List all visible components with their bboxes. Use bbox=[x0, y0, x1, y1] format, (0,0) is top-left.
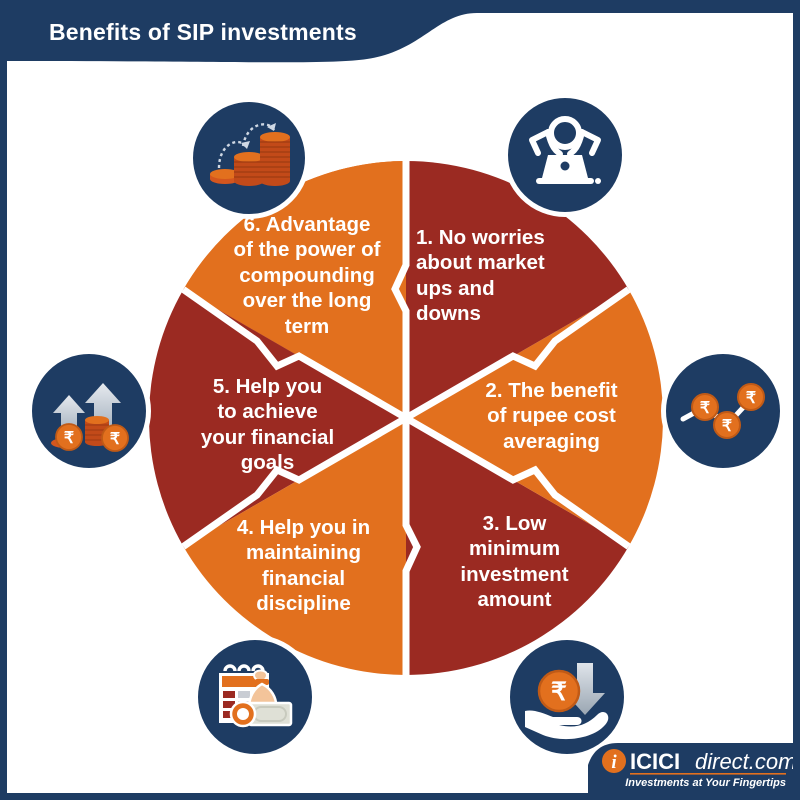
wheel-segment-4-label: 4. Help you in maintaining financial dis… bbox=[211, 515, 396, 617]
logo-tagline: Investments at Your Fingertips bbox=[625, 777, 786, 789]
wheel-segment-5-label: 5. Help you to achieve your financial go… bbox=[165, 374, 370, 476]
icicidirect-logo[interactable]: i ICICI direct.com Investments at Your F… bbox=[588, 735, 793, 793]
header-banner: Benefits of SIP investments bbox=[7, 3, 793, 113]
logo-brand-primary: ICICI bbox=[630, 749, 680, 774]
calendar-money-bag-icon[interactable] bbox=[193, 635, 317, 759]
svg-text:₹: ₹ bbox=[746, 390, 756, 407]
svg-text:₹: ₹ bbox=[700, 400, 710, 417]
svg-text:₹: ₹ bbox=[551, 678, 567, 706]
header-wave-shape bbox=[7, 3, 793, 113]
wheel-segment-1-label: 1. No worries about market ups and downs bbox=[416, 225, 581, 327]
svg-text:₹: ₹ bbox=[64, 430, 74, 447]
svg-text:₹: ₹ bbox=[110, 431, 120, 448]
page-title: Benefits of SIP investments bbox=[49, 19, 357, 46]
logo-i-mark: i bbox=[611, 752, 617, 773]
rupee-coins-line-icon[interactable]: ₹ ₹ ₹ bbox=[661, 349, 785, 473]
wheel-segment-2-label: 2. The benefit of rupee cost averaging bbox=[459, 378, 644, 454]
relaxed-person-laptop-icon[interactable] bbox=[503, 93, 627, 217]
growing-coin-stacks-icon[interactable] bbox=[188, 97, 310, 219]
wheel-segment-6-label: 6. Advantage of the power of compounding… bbox=[212, 212, 402, 339]
logo-brand-secondary: direct.com bbox=[695, 749, 793, 774]
svg-text:₹: ₹ bbox=[722, 418, 732, 435]
wheel-segment-3-label: 3. Low minimum investment amount bbox=[427, 511, 602, 613]
infographic-canvas: Benefits of SIP investments bbox=[0, 0, 800, 800]
growth-arrows-rupee-coins-icon[interactable]: ₹ ₹ bbox=[27, 349, 151, 473]
